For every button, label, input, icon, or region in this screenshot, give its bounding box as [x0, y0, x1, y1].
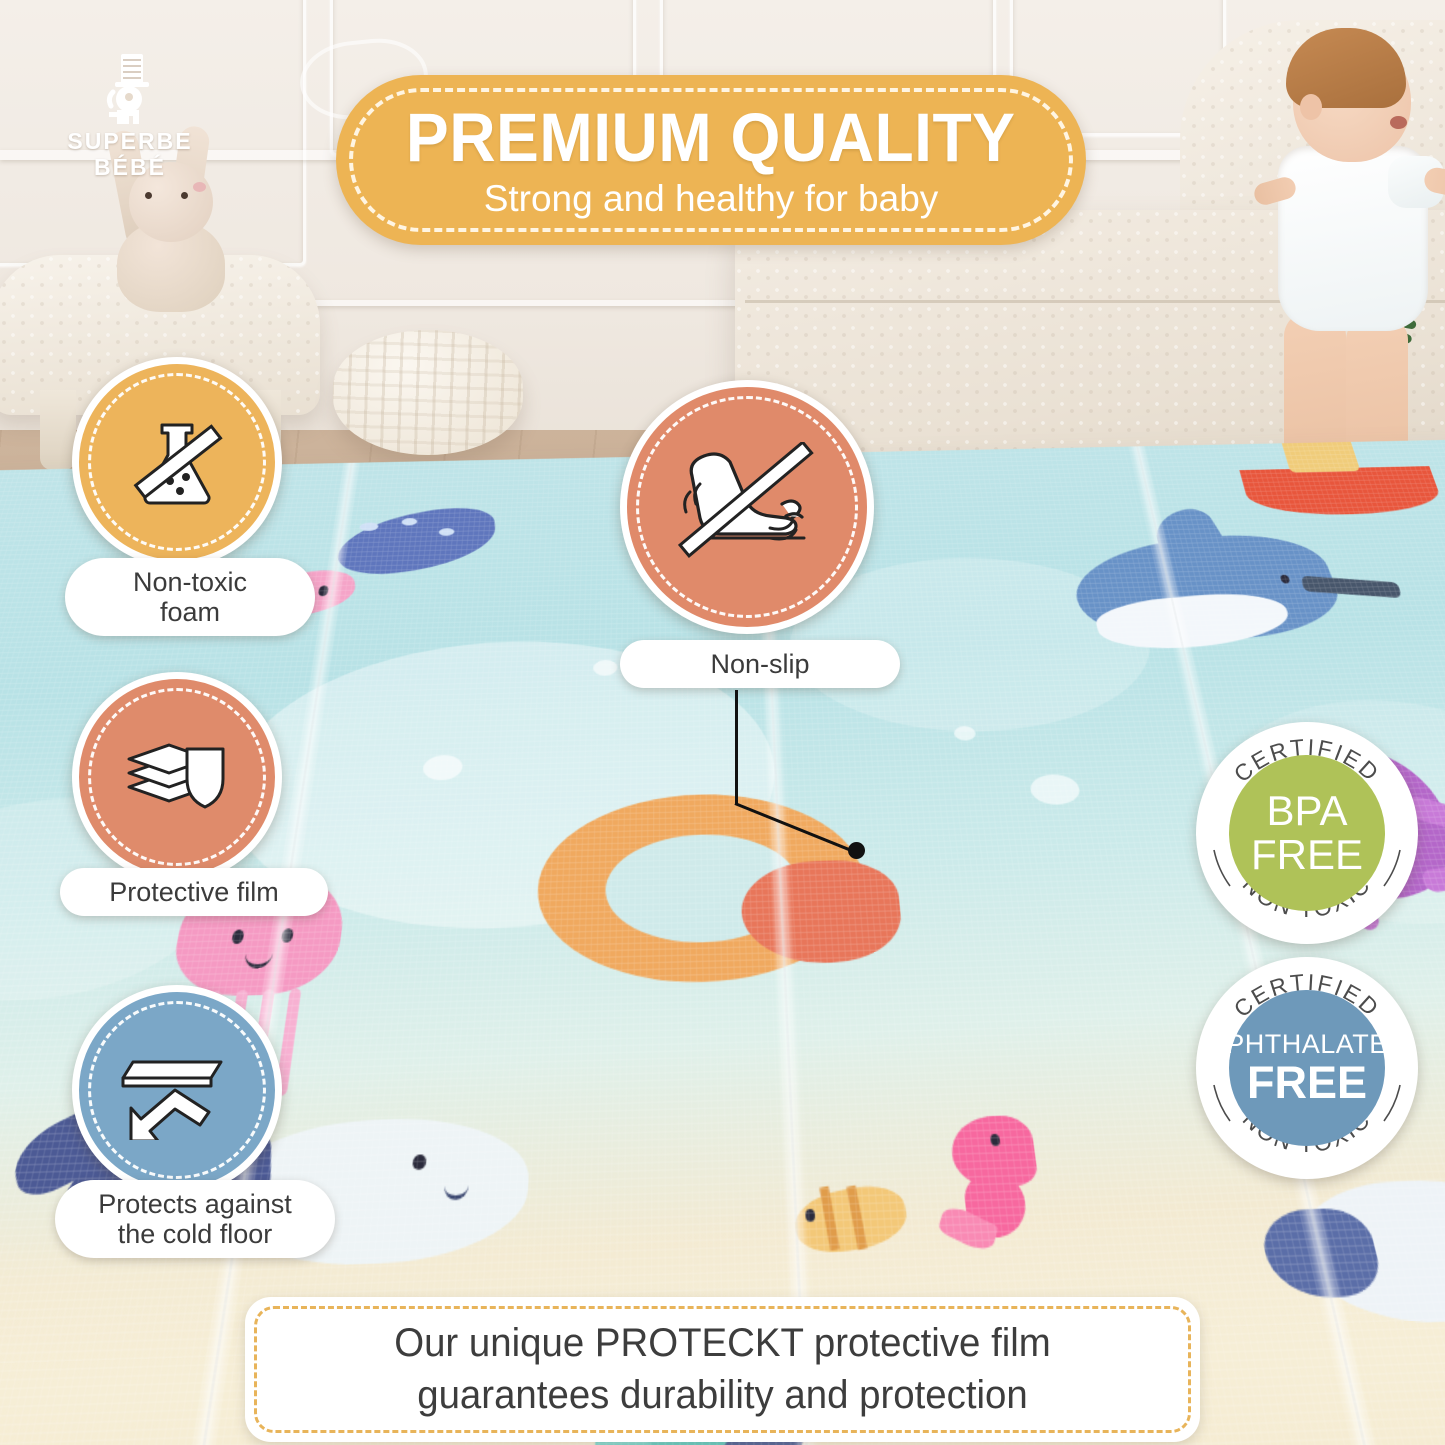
baby-with-top-hat-icon: [99, 52, 161, 130]
seal-line1-bpa: BPA: [1267, 790, 1348, 832]
page-subtitle: Strong and healthy for baby: [484, 180, 939, 217]
flask-no-chemicals-icon: [122, 407, 232, 517]
page-title: PREMIUM QUALITY: [406, 103, 1015, 172]
badge-non-toxic-foam[interactable]: [72, 357, 282, 567]
logo-line-2: BÉBÉ: [94, 156, 166, 179]
badge-cold-floor[interactable]: [72, 985, 282, 1195]
caption-text: Our unique PROTECKT protective film guar…: [264, 1297, 1181, 1442]
seal-phthalate-free: CERTIFIED NON TOXIC PHTHALATE FREE: [1196, 957, 1418, 1179]
product-image: SUPERBE BÉBÉ PREMIUM QUALITY Strong and …: [0, 0, 1445, 1445]
header-banner: PREMIUM QUALITY Strong and healthy for b…: [336, 75, 1086, 245]
badge-label-non-slip: Non-slip: [620, 640, 900, 688]
badge-label-cold-floor: Protects against the cold floor: [55, 1180, 335, 1258]
knitted-pouf: [333, 330, 523, 455]
logo-line-1: SUPERBE: [67, 130, 192, 153]
brand-logo[interactable]: SUPERBE BÉBÉ: [55, 52, 205, 192]
seal-line2-bpa: FREE: [1251, 834, 1363, 876]
bottom-caption: Our unique PROTECKT protective film guar…: [245, 1297, 1200, 1442]
seal-bpa-free: CERTIFIED NON TOXIC BPA FREE: [1196, 722, 1418, 944]
slipping-foot-no-icon: [674, 442, 820, 572]
badge-protective-film[interactable]: [72, 672, 282, 882]
badge-label-non-toxic-foam: Non-toxic foam: [65, 558, 315, 636]
seal-line1-phthalate: PHTHALATE: [1226, 1031, 1388, 1058]
seal-line2-phthalate: FREE: [1247, 1060, 1367, 1105]
layers-shield-icon: [121, 727, 233, 827]
mat-deflect-arrow-icon: [119, 1040, 235, 1140]
badge-label-protective-film: Protective film: [60, 868, 328, 916]
badge-non-slip[interactable]: [620, 380, 874, 634]
non-slip-leader-line: [735, 690, 895, 870]
stool-leg: [40, 390, 76, 470]
